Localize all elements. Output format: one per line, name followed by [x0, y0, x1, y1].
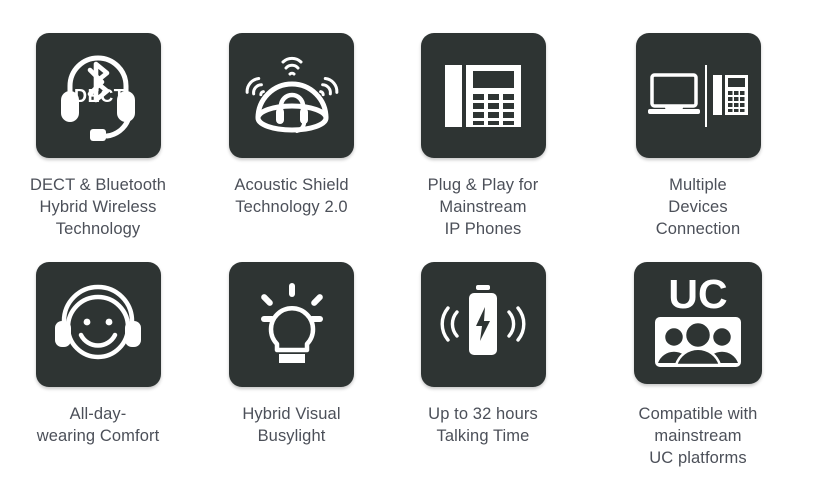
icon-tile-busylight[interactable]	[229, 262, 354, 387]
feature-caption: Hybrid Visual Busylight	[242, 404, 340, 448]
feature-caption: Acoustic Shield Technology 2.0	[234, 175, 348, 219]
icon-tile-comfort[interactable]	[36, 262, 161, 387]
feature-row-1: DECT DECT & Bluetooth Hybrid Wireless Te…	[0, 0, 817, 241]
light-bulb-icon	[246, 278, 338, 370]
feature-caption: Up to 32 hours Talking Time	[428, 404, 538, 448]
feature-item-acoustic-shield[interactable]: Acoustic Shield Technology 2.0	[196, 33, 387, 241]
icon-tile-ip-phones[interactable]	[421, 33, 546, 158]
feature-caption: Compatible with mainstream UC platforms	[639, 404, 758, 470]
desk-ip-phone-icon	[443, 61, 523, 131]
feature-item-talk-time[interactable]: Up to 32 hours Talking Time	[387, 262, 579, 470]
acoustic-shield-dome-icon	[242, 48, 342, 144]
feature-row-2: All-day- wearing Comfort Hybrid Visu	[0, 241, 817, 470]
feature-item-comfort[interactable]: All-day- wearing Comfort	[0, 262, 196, 470]
icon-tile-acoustic-shield[interactable]	[229, 33, 354, 158]
battery-charging-icon	[435, 281, 531, 367]
feature-item-ip-phones[interactable]: Plug & Play for Mainstream IP Phones	[387, 33, 579, 241]
uc-label: UC	[668, 273, 727, 317]
feature-item-dect-bluetooth[interactable]: DECT DECT & Bluetooth Hybrid Wireless Te…	[0, 33, 196, 241]
icon-tile-multiple-devices[interactable]	[636, 33, 761, 158]
dect-label: DECT	[74, 86, 125, 107]
feature-item-uc-platforms[interactable]: UC Compatible with mains	[579, 262, 817, 470]
feature-caption: Multiple Devices Connection	[656, 175, 740, 241]
laptop-and-phone-icon	[648, 61, 748, 131]
feature-caption: Plug & Play for Mainstream IP Phones	[428, 175, 539, 241]
uc-users-icon: UC	[646, 273, 750, 373]
feature-caption: DECT & Bluetooth Hybrid Wireless Technol…	[30, 175, 166, 241]
feature-item-multiple-devices[interactable]: Multiple Devices Connection	[579, 33, 817, 241]
icon-tile-talk-time[interactable]	[421, 262, 546, 387]
icon-tile-uc-platforms[interactable]: UC	[634, 262, 762, 384]
feature-caption: All-day- wearing Comfort	[37, 404, 160, 448]
feature-grid: DECT DECT & Bluetooth Hybrid Wireless Te…	[0, 0, 817, 492]
feature-item-busylight[interactable]: Hybrid Visual Busylight	[196, 262, 387, 470]
smiley-headphones-icon	[50, 279, 146, 369]
